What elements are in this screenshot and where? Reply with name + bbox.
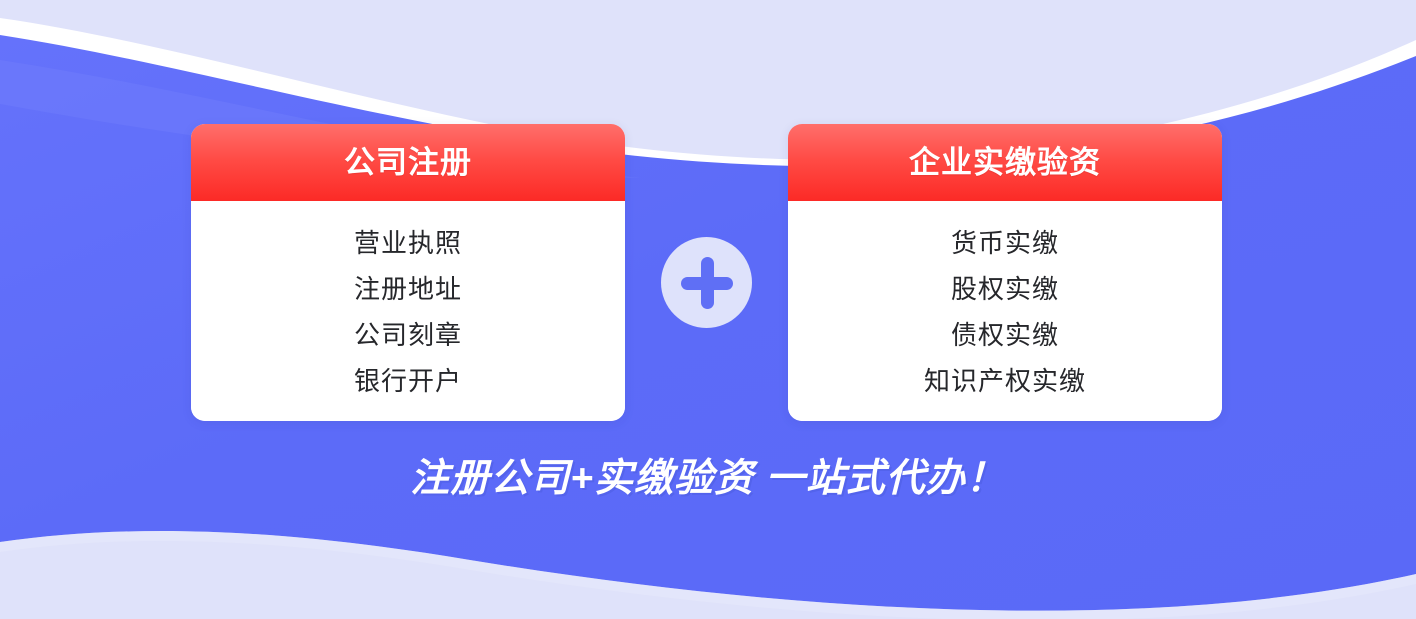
card-title: 公司注册	[344, 147, 472, 178]
card-list-item: 公司刻章	[354, 312, 462, 358]
card-list-item: 股权实缴	[951, 266, 1059, 312]
card-item-list: 货币实缴 股权实缴 债权实缴 知识产权实缴	[788, 201, 1222, 421]
promo-banner: 公司注册 营业执照 注册地址 公司刻章 银行开户 企业实缴验资 货币实缴 股权实…	[0, 0, 1416, 619]
service-card-company-registration[interactable]: 公司注册 营业执照 注册地址 公司刻章 银行开户	[191, 124, 625, 421]
card-list-item: 银行开户	[354, 358, 462, 404]
card-header: 公司注册	[191, 124, 625, 201]
plus-icon	[661, 237, 752, 328]
card-title: 企业实缴验资	[909, 147, 1101, 178]
card-item-list: 营业执照 注册地址 公司刻章 银行开户	[191, 201, 625, 421]
card-list-item: 注册地址	[354, 266, 462, 312]
card-list-item: 营业执照	[354, 220, 462, 266]
service-card-capital-verification[interactable]: 企业实缴验资 货币实缴 股权实缴 债权实缴 知识产权实缴	[788, 124, 1222, 421]
card-header: 企业实缴验资	[788, 124, 1222, 201]
tagline: 注册公司+实缴验资 一站式代办！	[0, 447, 1416, 503]
card-list-item: 知识产权实缴	[924, 358, 1086, 404]
card-list-item: 债权实缴	[951, 312, 1059, 358]
banner-content: 公司注册 营业执照 注册地址 公司刻章 银行开户 企业实缴验资 货币实缴 股权实…	[0, 0, 1416, 619]
plus-glyph	[681, 257, 733, 309]
card-list-item: 货币实缴	[951, 220, 1059, 266]
